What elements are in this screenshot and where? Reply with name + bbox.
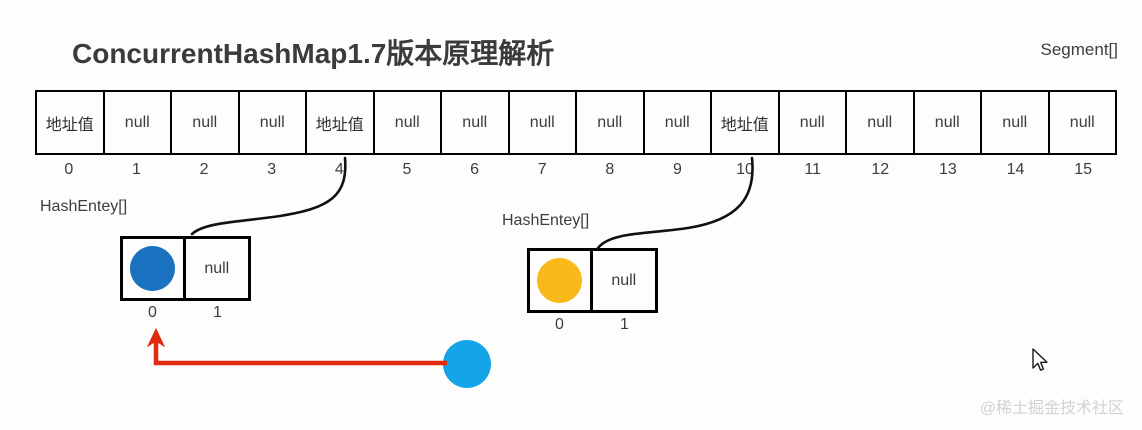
segment-cell-13[interactable]: null [915, 92, 983, 153]
insertion-arrow-line [156, 340, 447, 363]
segment-index-0: 0 [35, 157, 103, 183]
hash-entry-2-index-1: 1 [592, 316, 657, 334]
segment-index-2: 2 [170, 157, 238, 183]
segment-cell-11[interactable]: null [780, 92, 848, 153]
hash-entry-2-cell-1[interactable]: null [593, 251, 655, 310]
segment-index-6: 6 [441, 157, 509, 183]
segment-cell-2[interactable]: null [172, 92, 240, 153]
watermark-text: @稀土掘金技术社区 [980, 394, 1124, 418]
segment-index-10: 10 [711, 157, 779, 183]
hash-entry-2-index-0: 0 [527, 316, 592, 334]
hash-entry-1-cell-0[interactable] [123, 239, 186, 298]
hash-entry-2-index-row: 0 1 [527, 316, 657, 334]
hash-entry-1-index-1: 1 [185, 304, 250, 322]
hash-entry-array-label-1: HashEntey[] [40, 198, 127, 216]
segment-index-7: 7 [508, 157, 576, 183]
segment-cell-10[interactable]: 地址值 [712, 92, 780, 153]
segment-cell-1[interactable]: null [105, 92, 173, 153]
hash-entry-array-2: null [527, 248, 658, 313]
hash-entry-1-cell-1[interactable]: null [186, 239, 248, 298]
segment-cell-12[interactable]: null [847, 92, 915, 153]
segment-cell-5[interactable]: null [375, 92, 443, 153]
node-dot-orange [537, 258, 582, 303]
segment-array-table: 地址值 null null null 地址值 null null null nu… [35, 90, 1117, 155]
segment-index-5: 5 [373, 157, 441, 183]
hash-entry-array-1: null [120, 236, 251, 301]
diagram-canvas: ConcurrentHashMap1.7版本原理解析 Segment[] 地址值… [0, 0, 1142, 430]
hash-entry-2-cell-0[interactable] [530, 251, 593, 310]
hash-entry-1-index-0: 0 [120, 304, 185, 322]
insertion-arrow-head [148, 329, 164, 346]
hash-entry-1-index-row: 0 1 [120, 304, 250, 322]
segment-index-14: 14 [982, 157, 1050, 183]
page-title: ConcurrentHashMap1.7版本原理解析 [72, 32, 554, 72]
segment-array-label: Segment[] [1041, 40, 1119, 60]
mouse-cursor-icon [1031, 348, 1049, 374]
segment-index-9: 9 [644, 157, 712, 183]
segment-cell-14[interactable]: null [982, 92, 1050, 153]
segment-index-12: 12 [847, 157, 915, 183]
segment-index-11: 11 [779, 157, 847, 183]
segment-cell-4[interactable]: 地址值 [307, 92, 375, 153]
segment-index-13: 13 [914, 157, 982, 183]
segment-index-row: 0 1 2 3 4 5 6 7 8 9 10 11 12 13 14 15 [35, 157, 1117, 183]
node-dot-blue [130, 246, 175, 291]
segment-cell-9[interactable]: null [645, 92, 713, 153]
floating-node-dot-cyan[interactable] [443, 340, 491, 388]
segment-cell-8[interactable]: null [577, 92, 645, 153]
segment-cell-0[interactable]: 地址值 [37, 92, 105, 153]
segment-index-8: 8 [576, 157, 644, 183]
segment-cell-7[interactable]: null [510, 92, 578, 153]
segment-index-4: 4 [306, 157, 374, 183]
segment-index-3: 3 [238, 157, 306, 183]
hash-entry-array-label-2: HashEntey[] [502, 212, 589, 230]
segment-index-15: 15 [1049, 157, 1117, 183]
segment-cell-3[interactable]: null [240, 92, 308, 153]
segment-index-1: 1 [103, 157, 171, 183]
segment-cell-15[interactable]: null [1050, 92, 1116, 153]
segment-cell-6[interactable]: null [442, 92, 510, 153]
